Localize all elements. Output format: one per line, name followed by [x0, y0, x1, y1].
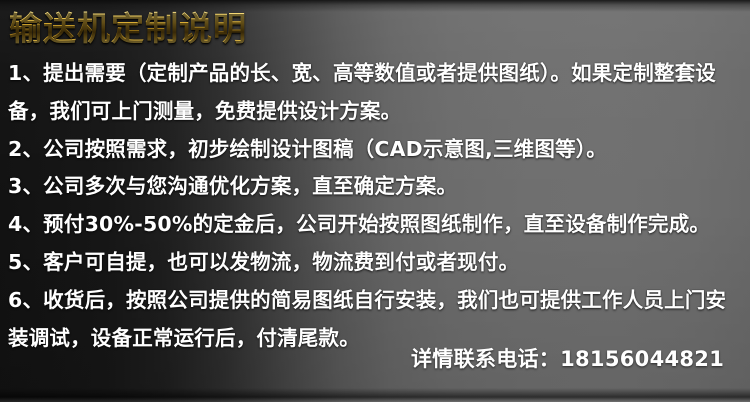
instruction-line: 4、预付30%-50%的定金后，公司开始按照图纸制作，直至设备制作完成。 — [8, 206, 744, 244]
contact-phone-text: 详情联系电话：18156044821 — [411, 344, 724, 374]
customization-instructions-banner: 输送机定制说明 1、提出需要（定制产品的长、宽、高等数值或者提供图纸）。如果定制… — [0, 0, 750, 402]
instruction-line: 3、公司多次与您沟通优化方案，直至确定方案。 — [8, 168, 744, 206]
instruction-line: 6、收货后，按照公司提供的简易图纸自行安装，我们也可提供工作人员上门安 — [8, 282, 744, 320]
instruction-line: 备，我们可上门测量，免费提供设计方案。 — [8, 93, 744, 131]
instruction-line: 2、公司按照需求，初步绘制设计图稿（CAD示意图,三维图等）。 — [8, 131, 744, 169]
instruction-list: 1、提出需要（定制产品的长、宽、高等数值或者提供图纸）。如果定制整套设 备，我们… — [8, 55, 744, 357]
page-title: 输送机定制说明 — [9, 9, 247, 49]
instruction-line: 1、提出需要（定制产品的长、宽、高等数值或者提供图纸）。如果定制整套设 — [8, 55, 744, 93]
instruction-line: 5、客户可自提，也可以发物流，物流费到付或者现付。 — [8, 244, 744, 282]
